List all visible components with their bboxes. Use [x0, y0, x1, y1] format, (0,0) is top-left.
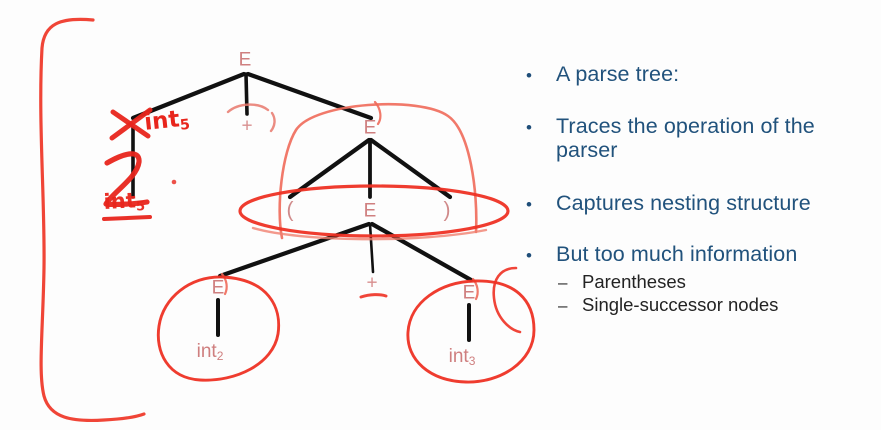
ink-struck-int5-subscript: 5	[136, 199, 146, 214]
bullet-label: A parse tree:	[556, 62, 679, 87]
bullet-dot-icon: •	[518, 114, 556, 136]
ink-struck-int5: int5	[103, 188, 146, 216]
bullet-label: But too much information	[556, 242, 797, 267]
bullet-label: Captures nesting structure	[556, 191, 811, 216]
ink-int5-stem: int	[143, 106, 181, 136]
dash-marker-icon: –	[558, 271, 582, 291]
sub-bullet-item-single-successor-nodes: – Single-successor nodes	[558, 294, 878, 316]
sub-bullet-label: Parentheses	[582, 271, 686, 293]
ink-handwritten-int5: int5	[143, 105, 191, 137]
sub-bullet-item-parentheses: – Parentheses	[558, 271, 878, 293]
bullet-dot-icon: •	[518, 242, 556, 264]
bullet-list: • A parse tree: • Traces the operation o…	[518, 62, 878, 316]
slide-canvas: E + E ( E ) E + E int2 int3	[0, 0, 881, 430]
bullet-dot-icon: •	[518, 191, 556, 213]
bullet-item-parse-tree: • A parse tree:	[518, 62, 878, 87]
bullet-item-traces-operation: • Traces the operation of the parser	[518, 114, 878, 163]
bullet-item-captures-nesting: • Captures nesting structure	[518, 191, 878, 216]
sub-bullet-label: Single-successor nodes	[582, 294, 778, 316]
bullet-dot-icon: •	[518, 62, 556, 84]
ink-struck-int5-stem: int	[103, 188, 136, 214]
bullet-item-too-much-information: • But too much information	[518, 242, 878, 267]
dash-marker-icon: –	[558, 294, 582, 314]
ink-int5-subscript: 5	[179, 117, 191, 134]
bullet-label: Traces the operation of the parser	[556, 114, 878, 163]
